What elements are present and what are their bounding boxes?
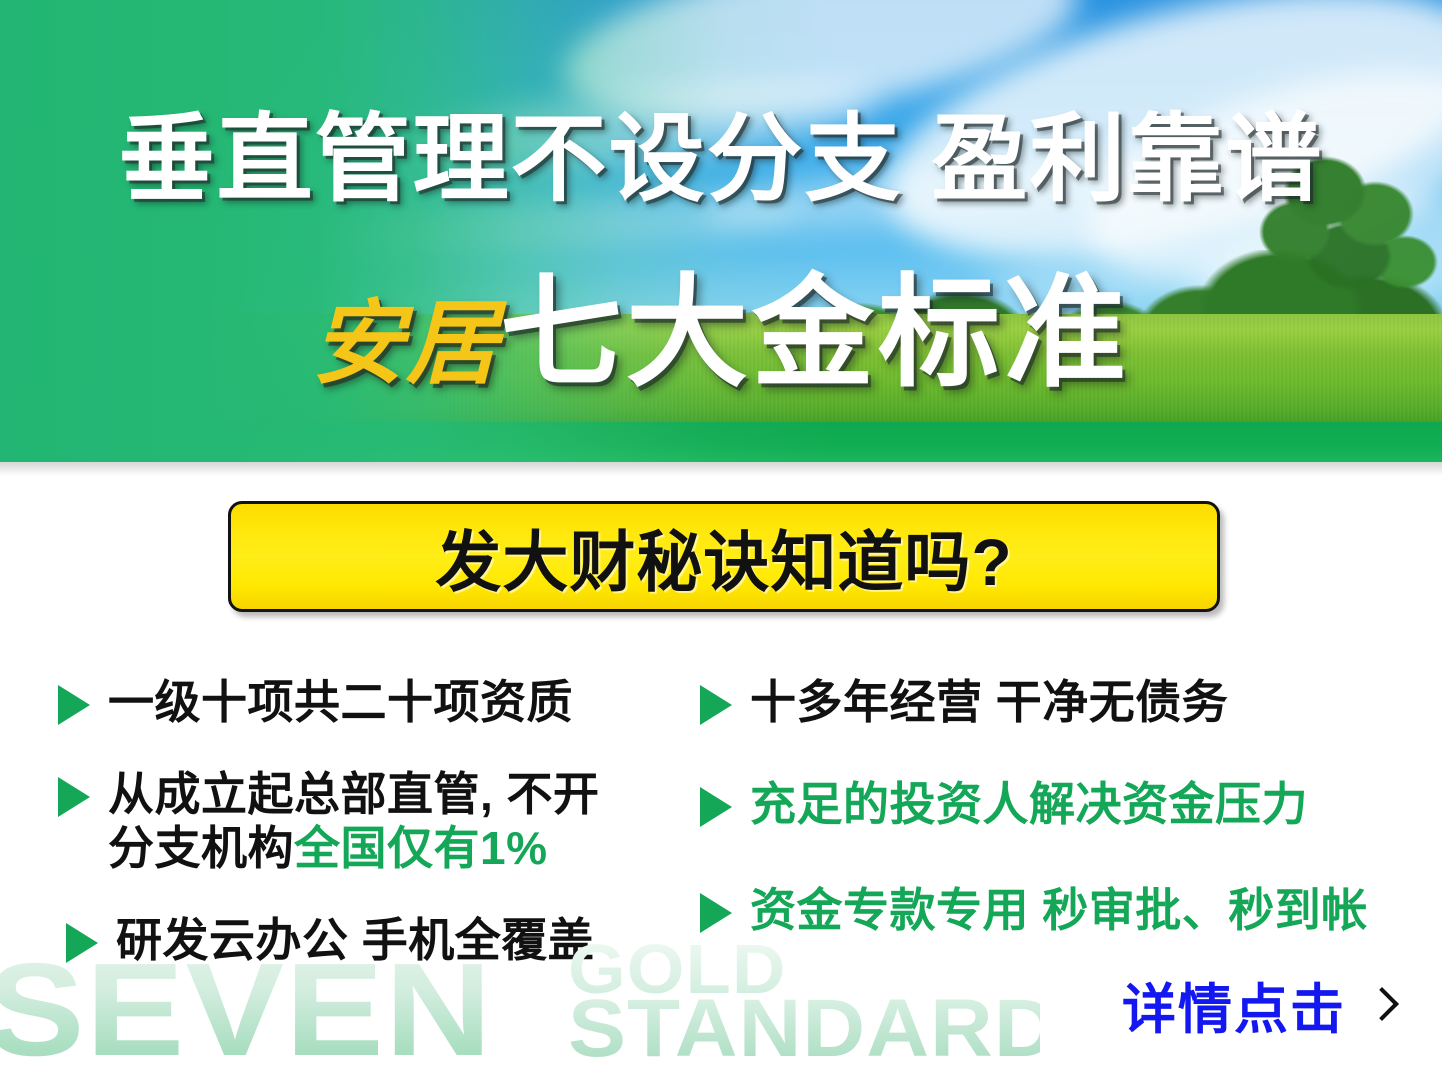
hero-subheadline-text: 七大金标准 <box>500 265 1130 401</box>
triangle-bullet-icon <box>700 685 732 725</box>
feature-item-line1: 从成立起总部直管, 不开 <box>108 768 600 820</box>
hero-brand-text: 安居 <box>312 293 500 395</box>
hero-section: 垂直管理不设分支 盈利靠谱 安居七大金标准 <box>0 0 1442 462</box>
triangle-bullet-icon <box>700 787 732 827</box>
feature-item-label: 一级十项共二十项资质 <box>108 675 573 729</box>
feature-item: 从成立起总部直管, 不开分支机构全国仅有1% <box>58 767 600 876</box>
feature-item-label: 十多年经营 干净无债务 <box>750 675 1228 729</box>
watermark-standards-text: STANDARDS <box>568 988 1040 1066</box>
hero-headline: 垂直管理不设分支 盈利靠谱 <box>0 112 1442 208</box>
triangle-bullet-icon <box>58 685 90 725</box>
feature-item-line2-plain: 分支机构 <box>108 822 294 874</box>
feature-item-label: 资金专款专用 秒审批、秒到帐 <box>750 883 1368 937</box>
feature-item: 充足的投资人解决资金压力 <box>700 777 1308 831</box>
highlight-banner[interactable]: 发大财秘诀知道吗? <box>228 501 1220 612</box>
chevron-right-icon <box>1368 985 1390 1025</box>
feature-item-label: 研发云办公 手机全覆盖 <box>116 913 594 967</box>
triangle-bullet-icon <box>58 777 90 817</box>
feature-item-label: 充足的投资人解决资金压力 <box>750 777 1308 831</box>
feature-item: 资金专款专用 秒审批、秒到帐 <box>700 883 1368 937</box>
feature-item: 十多年经营 干净无债务 <box>700 675 1228 729</box>
hero-drop-shadow <box>0 462 1442 476</box>
triangle-bullet-icon <box>700 893 732 933</box>
feature-item-label: 从成立起总部直管, 不开分支机构全国仅有1% <box>108 767 600 876</box>
hero-subheadline: 安居七大金标准 <box>0 272 1442 394</box>
triangle-bullet-icon <box>66 923 98 963</box>
feature-item: 研发云办公 手机全覆盖 <box>66 913 594 967</box>
details-cta-label: 详情点击 <box>1122 965 1346 1044</box>
feature-item-line2-highlight: 全国仅有1% <box>294 822 547 874</box>
details-cta-button[interactable]: 详情点击 <box>1122 965 1390 1044</box>
highlight-banner-text: 发大财秘诀知道吗? <box>435 509 1012 605</box>
feature-item: 一级十项共二十项资质 <box>58 675 573 729</box>
promo-banner-page: 垂直管理不设分支 盈利靠谱 安居七大金标准 发大财秘诀知道吗? 一级十项共二十项… <box>0 0 1442 1066</box>
feature-columns: 一级十项共二十项资质 从成立起总部直管, 不开分支机构全国仅有1% 研发云办公 … <box>0 655 1442 975</box>
